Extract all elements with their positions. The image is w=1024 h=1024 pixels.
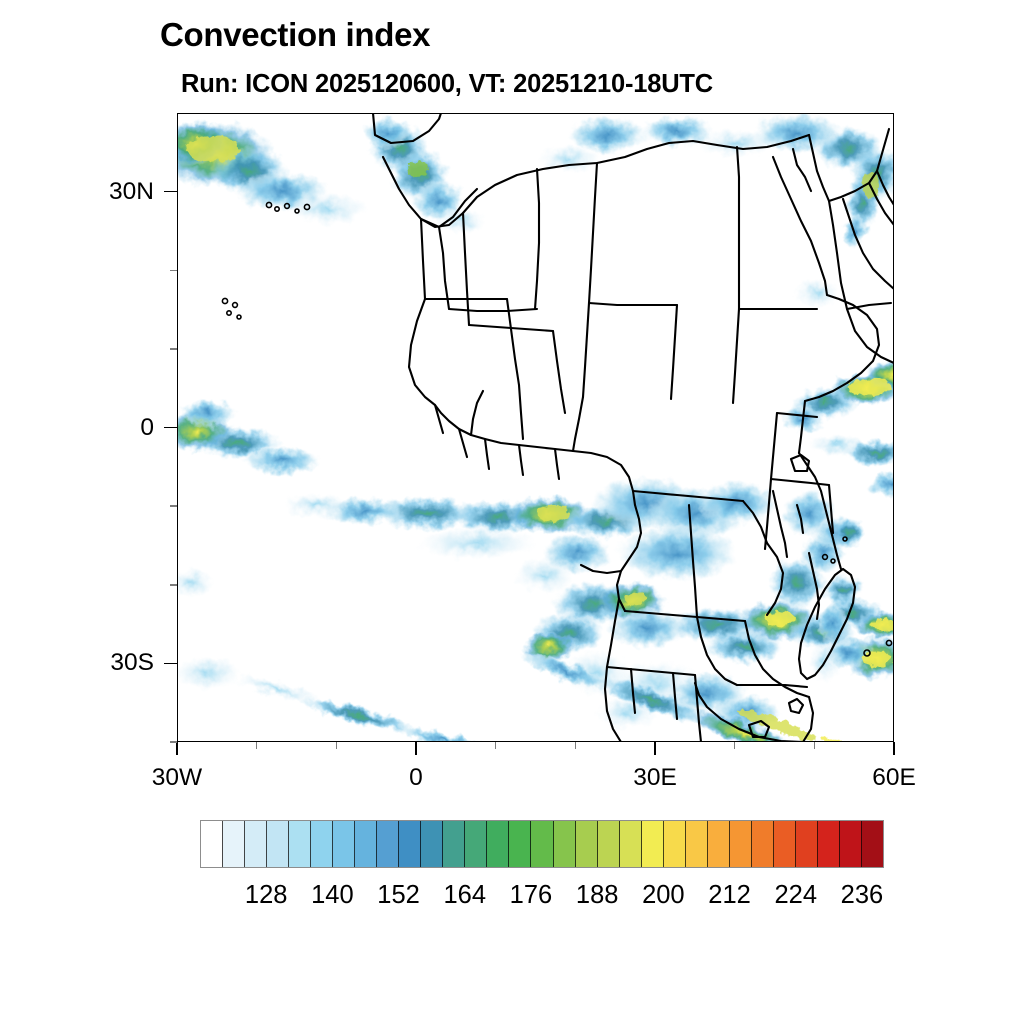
colorbar-cell — [554, 821, 576, 867]
x-axis-label: 60E — [872, 764, 916, 792]
colorbar-cell — [289, 821, 311, 867]
colorbar-tick-label: 212 — [708, 881, 751, 910]
colorbar-tick-label: 176 — [510, 881, 553, 910]
colorbar-cell — [201, 821, 223, 867]
y-axis-tick-major — [164, 663, 177, 665]
y-axis-label: 30N — [47, 178, 154, 206]
colorbar-tick-label: 200 — [642, 881, 685, 910]
y-axis-tick-major — [164, 191, 177, 193]
x-axis-tick-major — [654, 742, 656, 755]
figure-canvas: Convection index Run: ICON 2025120600, V… — [0, 0, 1024, 1024]
map-raster — [177, 113, 894, 742]
colorbar-cell — [642, 821, 664, 867]
colorbar-tick-label: 152 — [377, 881, 420, 910]
y-axis-tick-minor — [170, 505, 177, 507]
colorbar-cell — [223, 821, 245, 867]
colorbar-cell — [465, 821, 487, 867]
map-plot-area[interactable] — [177, 113, 894, 742]
x-axis-tick-minor — [814, 742, 816, 749]
y-axis-label: 30S — [47, 649, 154, 677]
x-axis-tick-minor — [336, 742, 338, 749]
colorbar-cell — [796, 821, 818, 867]
x-axis-tick-minor — [734, 742, 736, 749]
colorbar-cell — [487, 821, 509, 867]
colorbar-tick-label: 188 — [576, 881, 619, 910]
x-axis-tick-major — [893, 742, 895, 755]
colorbar-cell — [840, 821, 862, 867]
colorbar-tick-label: 128 — [245, 881, 288, 910]
x-axis-tick-minor — [495, 742, 497, 749]
colorbar-cell — [818, 821, 840, 867]
colorbar-tick-label: 140 — [311, 881, 354, 910]
x-axis-tick-minor — [575, 742, 577, 749]
x-axis-tick-major — [176, 742, 178, 755]
map-svg — [177, 113, 894, 742]
colorbar-cell — [620, 821, 642, 867]
y-axis-tick-minor — [170, 584, 177, 586]
x-axis-label: 30W — [152, 764, 202, 792]
x-axis-tick-minor — [256, 742, 258, 749]
y-axis-tick-minor — [170, 741, 177, 743]
colorbar-cell — [509, 821, 531, 867]
colorbar-cell — [774, 821, 796, 867]
y-axis-tick-minor — [170, 270, 177, 272]
colorbar-tick-label: 164 — [443, 881, 486, 910]
colorbar-cell — [377, 821, 399, 867]
colorbar-cell — [443, 821, 465, 867]
colorbar-cell — [333, 821, 355, 867]
colorbar-cell — [311, 821, 333, 867]
colorbar-cell — [686, 821, 708, 867]
colorbar-cell — [664, 821, 686, 867]
colorbar-tick-label: 236 — [841, 881, 884, 910]
colorbar-tick-label: 224 — [774, 881, 817, 910]
colorbar-cell — [531, 821, 553, 867]
y-axis-tick-major — [164, 427, 177, 429]
colorbar-cell — [421, 821, 443, 867]
colorbar-cell — [399, 821, 421, 867]
page-title: Convection index — [160, 16, 430, 54]
colorbar-cell — [576, 821, 598, 867]
figure-subtitle: Run: ICON 2025120600, VT: 20251210-18UTC — [181, 70, 713, 99]
y-axis-tick-minor — [170, 348, 177, 350]
colorbar-cell — [267, 821, 289, 867]
colorbar-cell — [245, 821, 267, 867]
colorbar-cell — [730, 821, 752, 867]
x-axis-label: 0 — [409, 764, 423, 792]
colorbar-cell — [355, 821, 377, 867]
colorbar-cell — [862, 821, 883, 867]
y-axis-label: 0 — [47, 414, 154, 442]
colorbar-cell — [708, 821, 730, 867]
x-axis-label: 30E — [633, 764, 677, 792]
colorbar-cell — [752, 821, 774, 867]
colorbar-cell — [598, 821, 620, 867]
colorbar[interactable] — [200, 820, 884, 868]
x-axis-tick-major — [415, 742, 417, 755]
